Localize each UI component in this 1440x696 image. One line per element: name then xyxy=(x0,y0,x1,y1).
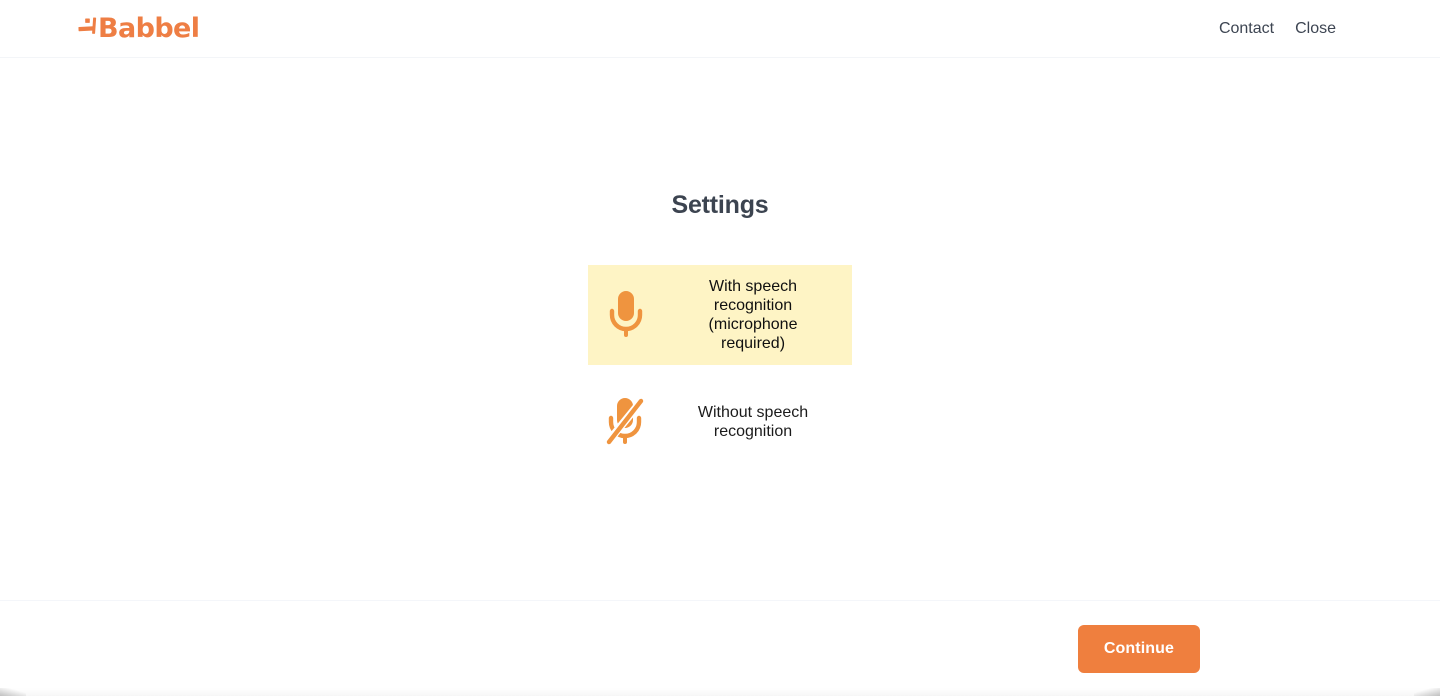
microphone-muted-icon-wrap xyxy=(588,395,664,449)
microphone-icon xyxy=(605,288,647,342)
babbel-logo[interactable]: Babbel xyxy=(78,15,199,42)
microphone-muted-icon xyxy=(602,395,650,449)
option-with-speech-recognition-label: With speech recognition (microphone requ… xyxy=(664,277,852,353)
babbel-divide-mark-icon xyxy=(78,17,97,41)
header-links: Contact Close xyxy=(1219,20,1336,38)
option-without-speech-recognition[interactable]: Without speech recognition xyxy=(588,383,852,461)
app-root: Babbel Contact Close Settings With speec… xyxy=(0,0,1440,696)
speech-recognition-options: With speech recognition (microphone requ… xyxy=(588,265,852,461)
option-with-speech-recognition[interactable]: With speech recognition (microphone requ… xyxy=(588,265,852,365)
options-spacer xyxy=(588,365,852,383)
option-without-speech-recognition-label: Without speech recognition xyxy=(664,403,852,441)
contact-link[interactable]: Contact xyxy=(1219,20,1274,38)
app-footer: Continue xyxy=(0,600,1440,696)
close-link[interactable]: Close xyxy=(1295,20,1336,38)
microphone-icon-wrap xyxy=(588,288,664,342)
main-content: Settings With speech recognition (microp… xyxy=(0,58,1440,600)
babbel-wordmark: Babbel xyxy=(98,15,199,42)
page-title: Settings xyxy=(671,58,768,220)
app-header: Babbel Contact Close xyxy=(0,0,1440,58)
continue-button[interactable]: Continue xyxy=(1078,625,1200,673)
